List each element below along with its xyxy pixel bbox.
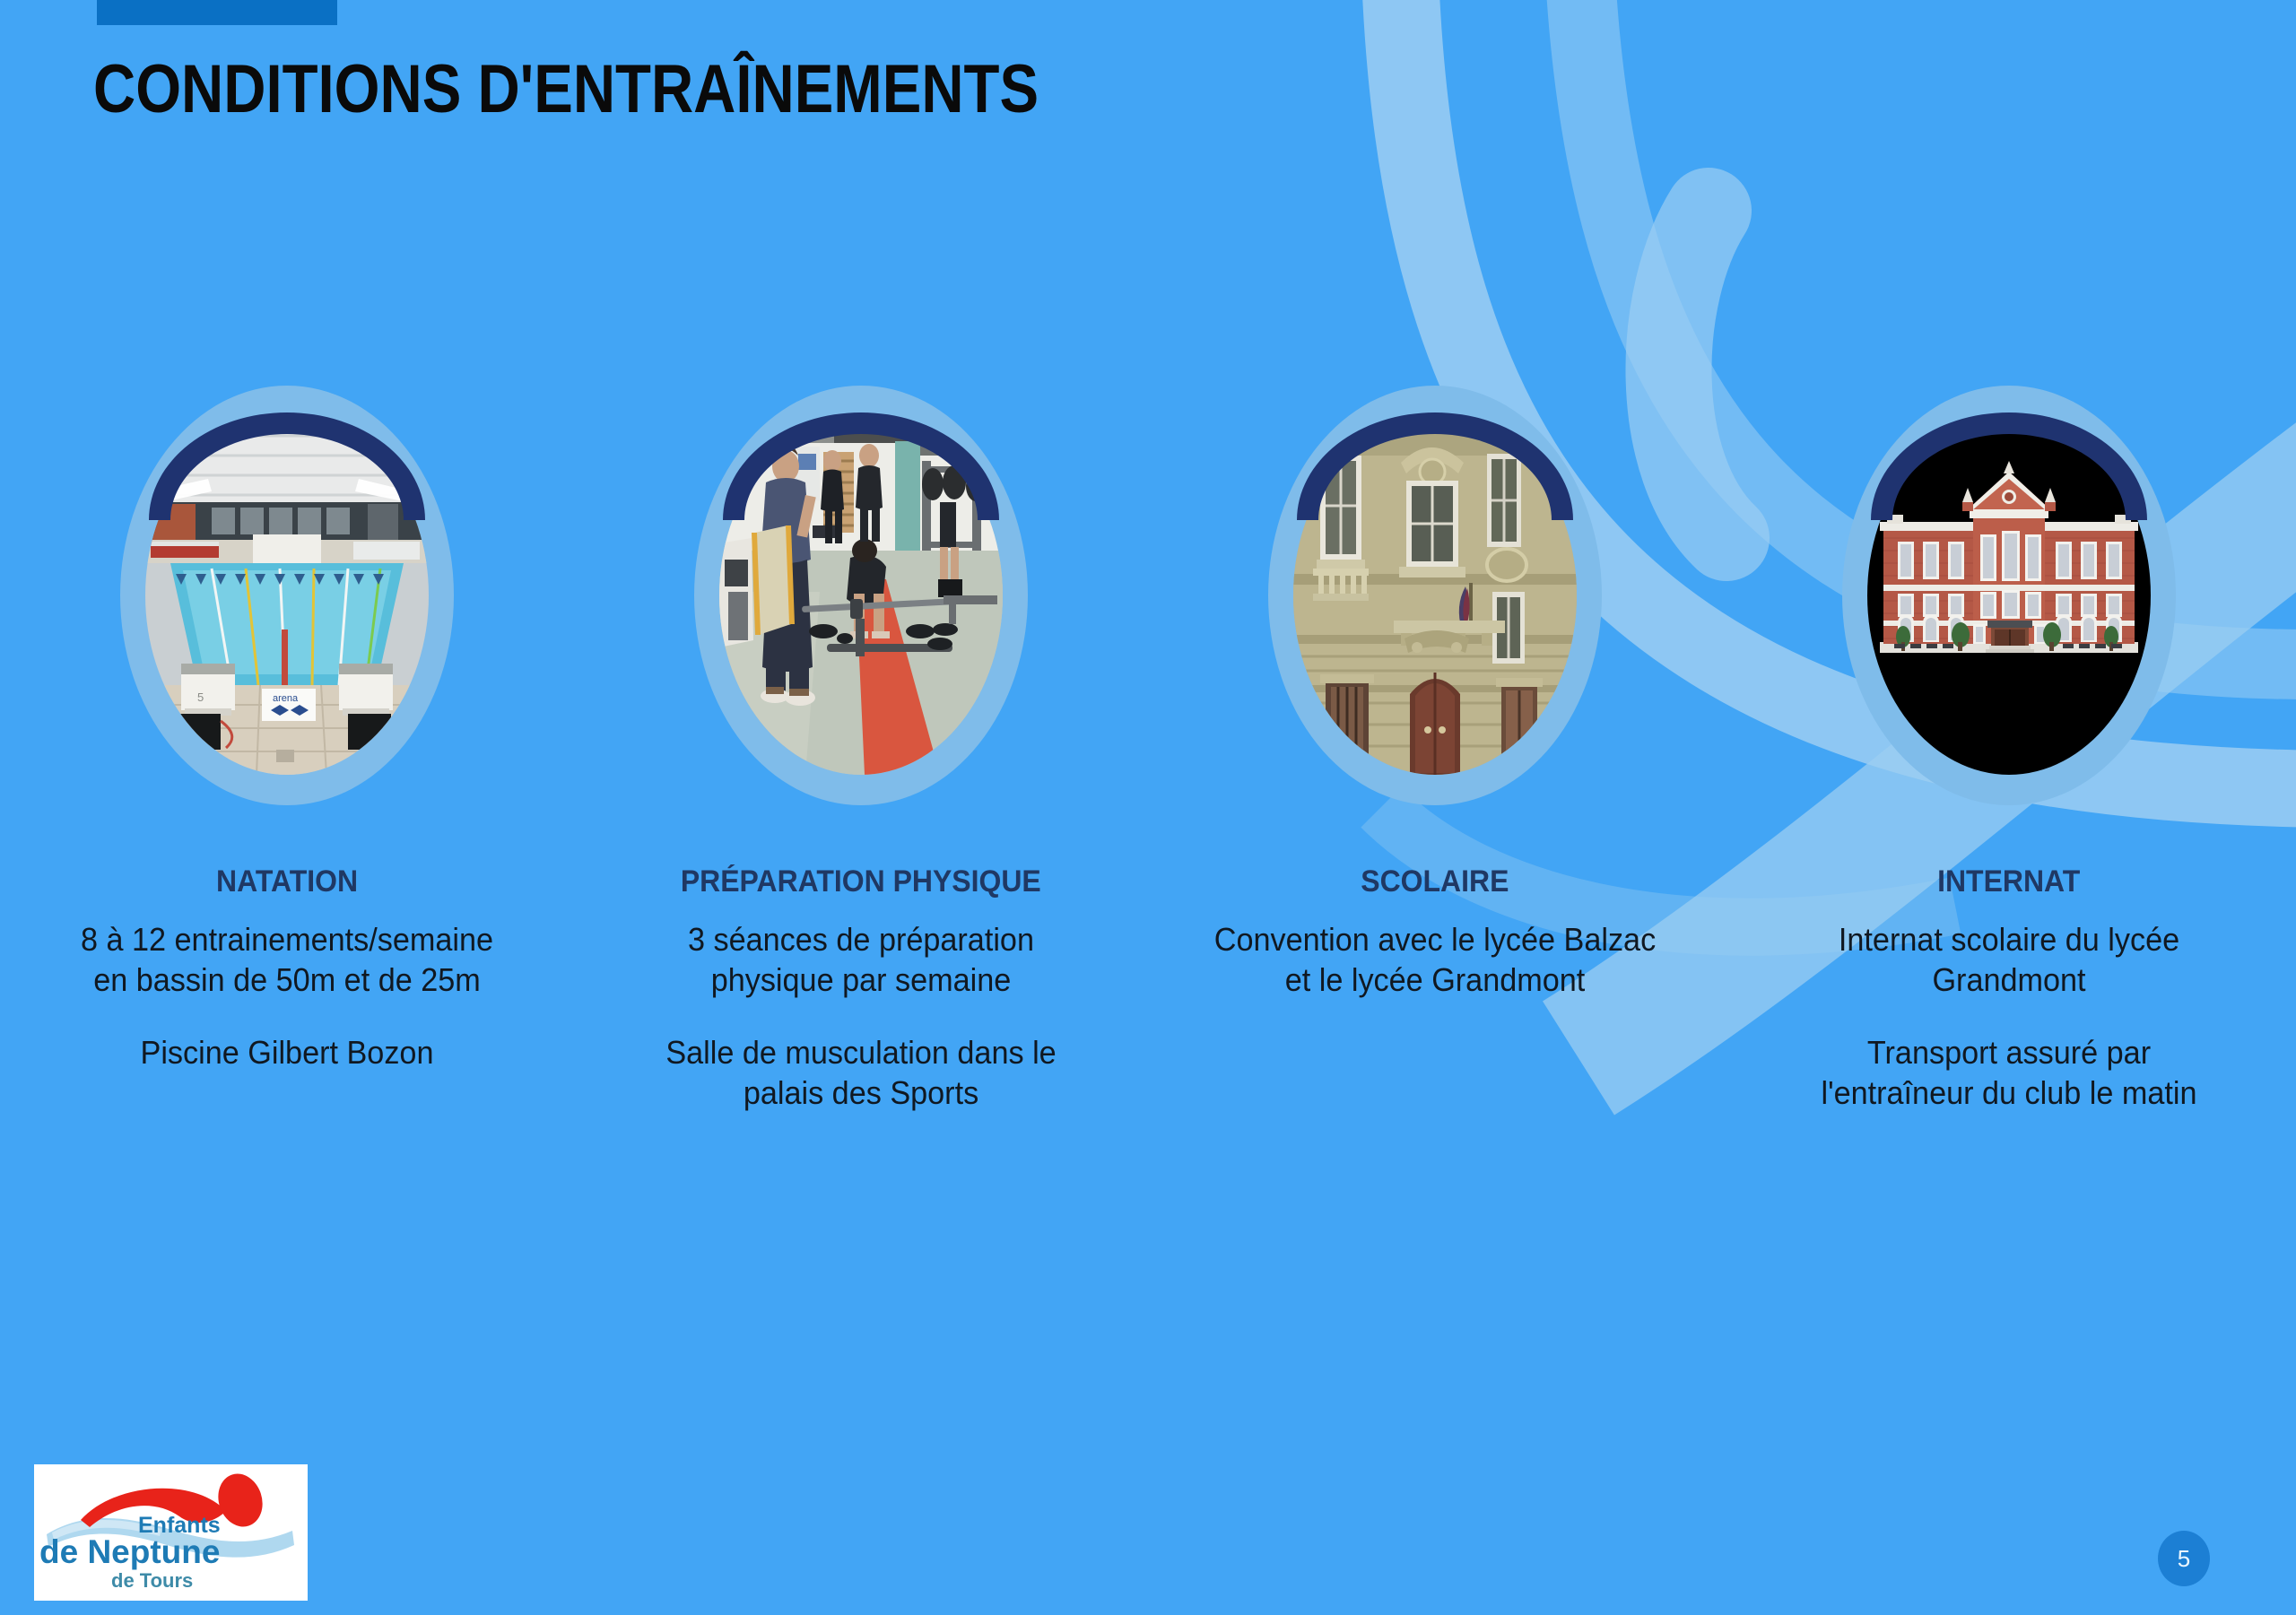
- column-internat: INTERNAT Internat scolaire du lycée Gran…: [1722, 386, 2296, 1211]
- column-heading: INTERNAT: [1937, 864, 2080, 899]
- salle-de-musculation-photo: [719, 416, 1003, 775]
- column-preparation-physique: PRÉPARATION PHYSIQUE 3 séances de prépar…: [574, 386, 1148, 1211]
- page-number-badge: 5: [2158, 1531, 2210, 1586]
- column-paragraph: 8 à 12 entrainements/semaine en bassin d…: [48, 919, 526, 1000]
- svg-text:5: 5: [197, 690, 204, 704]
- club-logo: Enfants de Neptune de Tours: [34, 1464, 308, 1601]
- svg-text:de Neptune: de Neptune: [39, 1533, 220, 1570]
- column-body: 8 à 12 entrainements/semaine en bassin d…: [36, 919, 538, 1072]
- column-natation: 5 arena: [0, 386, 574, 1211]
- enfants-de-neptune-de-tours-logo: Enfants de Neptune de Tours: [34, 1464, 308, 1601]
- svg-text:arena: arena: [273, 693, 299, 704]
- page-title: CONDITIONS D'ENTRAÎNEMENTS: [93, 56, 1039, 124]
- column-paragraph: 3 séances de préparation physique par se…: [622, 919, 1100, 1000]
- image-frame-preparation-physique: [694, 386, 1028, 805]
- image-frame-natation: 5 arena: [120, 386, 454, 805]
- column-body: Internat scolaire du lycée Grandmont Tra…: [1758, 919, 2260, 1113]
- svg-text:de Tours: de Tours: [111, 1569, 193, 1592]
- column-paragraph: Transport assuré par l'entraîneur du clu…: [1770, 1032, 2248, 1113]
- column-heading: NATATION: [216, 864, 358, 899]
- column-paragraph: Piscine Gilbert Bozon: [48, 1032, 526, 1072]
- image-frame-scolaire: [1268, 386, 1602, 805]
- column-paragraph: Convention avec le lycée Balzac et le ly…: [1196, 919, 1674, 1000]
- top-accent-bar: [97, 0, 337, 25]
- column-heading: SCOLAIRE: [1361, 864, 1509, 899]
- piscine-gilbert-bozon-photo: 5 arena: [145, 416, 429, 775]
- lycee-grandmont-photo: [1867, 416, 2151, 775]
- lycee-balzac-photo: [1293, 416, 1577, 775]
- column-paragraph: Salle de musculation dans le palais des …: [622, 1032, 1100, 1113]
- column-heading: PRÉPARATION PHYSIQUE: [681, 864, 1041, 899]
- content-columns: 5 arena: [0, 386, 2296, 1211]
- column-paragraph: Internat scolaire du lycée Grandmont: [1770, 919, 2248, 1000]
- image-frame-internat: [1842, 386, 2176, 805]
- column-body: 3 séances de préparation physique par se…: [610, 919, 1112, 1113]
- column-scolaire: SCOLAIRE Convention avec le lycée Balzac…: [1148, 386, 1722, 1211]
- column-body: Convention avec le lycée Balzac et le ly…: [1184, 919, 1686, 1000]
